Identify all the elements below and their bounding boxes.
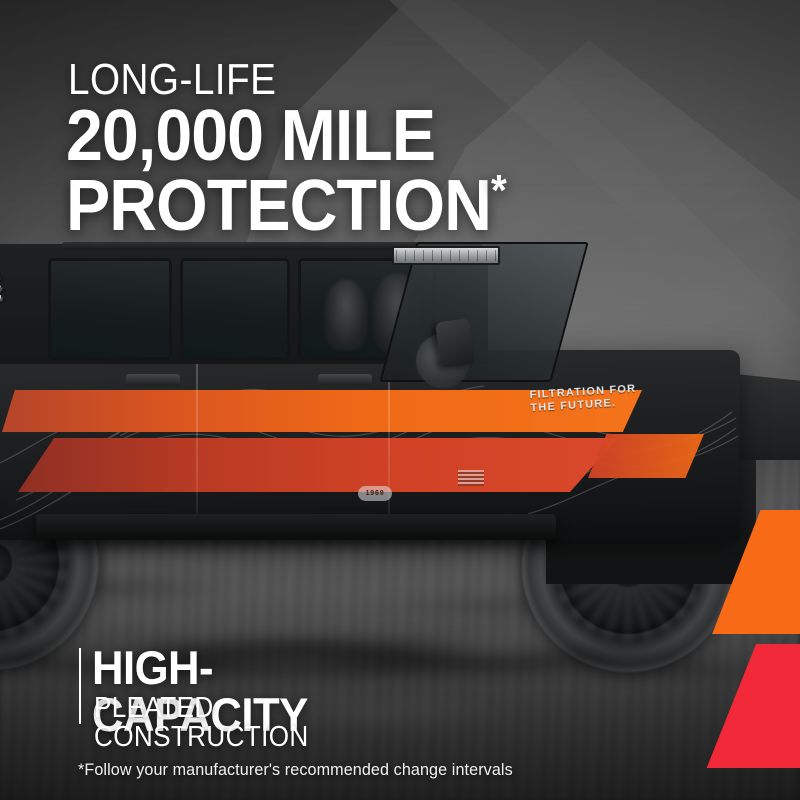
- headline-asterisk: *: [491, 166, 507, 215]
- headline-line-2-text: PROTECTION: [66, 166, 491, 246]
- headline-line-1: 20,000 MILE: [66, 102, 507, 170]
- footnote-disclaimer: *Follow your manufacturer's recommended …: [78, 760, 513, 780]
- subhead-secondary: PLEATED CONSTRUCTION: [94, 694, 309, 752]
- headline-line-2: PROTECTION*: [66, 170, 507, 240]
- headline: 20,000 MILE PROTECTION*: [66, 102, 507, 241]
- vertical-rule-divider: [79, 648, 81, 724]
- advertisement-canvas: 1969 FILTRATION FOR THE FUTURE. K& N.: [0, 0, 800, 800]
